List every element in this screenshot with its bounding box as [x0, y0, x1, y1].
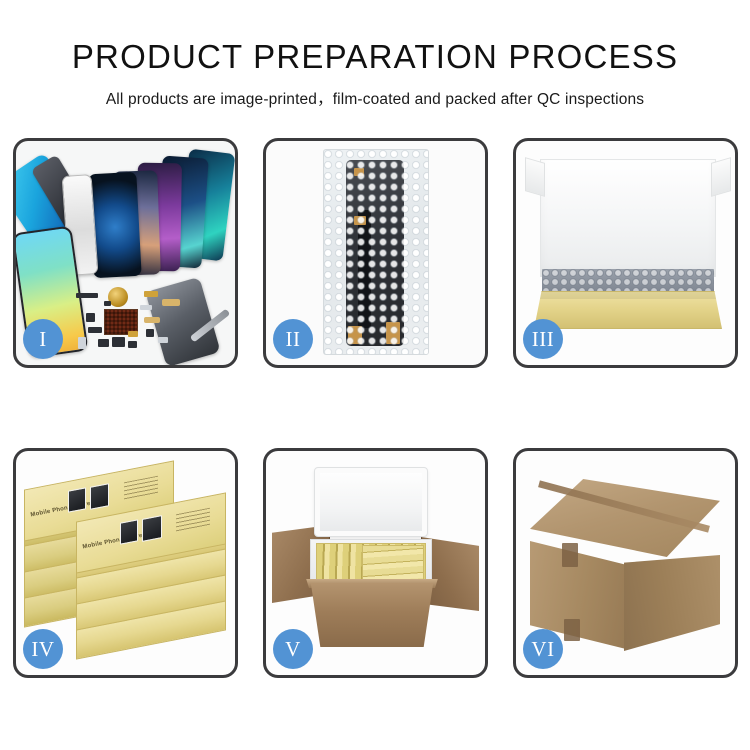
component-chip	[98, 339, 109, 347]
retail-box-stack: Mobile Phone Spare Parts Mobile Phone Sp…	[24, 475, 230, 657]
step-badge: VI	[523, 629, 563, 669]
carton-front-panel	[304, 583, 440, 647]
kraft-box-tray	[534, 291, 722, 329]
box-label-window	[90, 483, 109, 510]
panel-product-parts: I Phone display assemblies, screen prote…	[13, 138, 238, 368]
box-label-window	[68, 487, 86, 512]
process-step-grid: I Phone display assemblies, screen prote…	[13, 138, 738, 683]
component-chip	[86, 313, 95, 322]
page-subtitle: All products are image-printed，film-coat…	[0, 87, 750, 109]
component-flex-cable	[144, 317, 160, 323]
product-preparation-infographic: PRODUCT PREPARATION PROCESS All products…	[0, 0, 750, 750]
component-chip	[158, 337, 168, 343]
speaker-component	[108, 287, 128, 307]
packed-retail-boxes	[362, 545, 424, 581]
component-chip	[78, 337, 86, 349]
component-chip	[144, 291, 158, 297]
component-chip	[76, 293, 98, 298]
panel-bubble-wrap: II Display assembly sealed in bubble wra…	[263, 138, 488, 368]
step-badge: V	[273, 629, 313, 669]
header: PRODUCT PREPARATION PROCESS All products…	[0, 0, 750, 109]
component-chip	[128, 331, 138, 337]
component-chip	[112, 337, 125, 347]
component-chip	[128, 341, 137, 348]
panel-box-stack: Mobile Phone Spare Parts Mobile Phone Sp…	[13, 448, 238, 678]
carton-right-face	[624, 555, 720, 651]
step-badge: IV	[23, 629, 63, 669]
carton-tape-piece	[564, 619, 580, 641]
step-badge: II	[273, 319, 313, 359]
component-chip	[140, 305, 152, 310]
box-label-window	[120, 519, 138, 544]
panel-carton-sealed: VI Sealed brown shipping carton ready fo…	[513, 448, 738, 678]
component-flex-cable	[162, 299, 180, 306]
step-badge: III	[523, 319, 563, 359]
panel-carton-filled: V Open shipping carton with foam lid and…	[263, 448, 488, 678]
component-chip	[146, 329, 154, 337]
bubble-texture-overlay	[324, 150, 428, 354]
bubble-wrap-bag	[323, 149, 429, 355]
page-title: PRODUCT PREPARATION PROCESS	[0, 40, 750, 75]
panel-inner-box: III Open kraft inner box with white lid …	[513, 138, 738, 368]
component-chip	[104, 301, 111, 306]
carton-tape-piece	[562, 543, 578, 567]
foam-lid	[314, 467, 428, 537]
component-chip	[88, 327, 102, 333]
step-badge: I	[23, 319, 63, 359]
white-box-lid	[540, 159, 716, 277]
box-label-window	[142, 515, 162, 542]
